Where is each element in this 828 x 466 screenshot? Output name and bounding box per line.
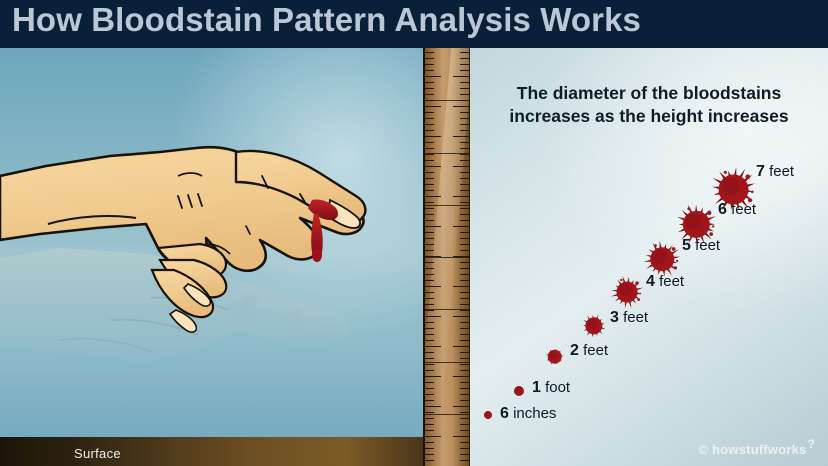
ruler-tick <box>425 166 441 167</box>
ruler-tick <box>425 340 434 341</box>
ruler-tick <box>425 352 434 353</box>
ruler-tick <box>460 82 469 83</box>
ruler-tick <box>453 136 469 137</box>
ruler-tick <box>425 70 434 71</box>
ruler-tick <box>425 316 441 317</box>
title-bar: How Bloodstain Pattern Analysis Works <box>0 0 828 48</box>
ruler-tick <box>425 136 441 137</box>
ruler-tick <box>425 328 434 329</box>
ruler-tick <box>460 154 469 155</box>
ruler-tick <box>460 358 469 359</box>
ruler-tick <box>453 286 469 287</box>
ruler-tick <box>460 388 469 389</box>
ruler-tick <box>425 196 441 197</box>
watermark-text: © howstuffworks <box>699 442 807 457</box>
ruler-tick <box>425 220 434 221</box>
infographic-root: How Bloodstain Pattern Analysis Works <box>0 0 828 466</box>
ruler-tick <box>460 232 469 233</box>
ruler-tick <box>460 52 469 53</box>
ruler-tick <box>425 358 434 359</box>
ruler-tick <box>425 424 434 425</box>
ruler-tick <box>460 148 469 149</box>
ruler-tick <box>460 418 469 419</box>
ruler-tick <box>425 412 434 413</box>
bloodstain-height-label: 7 feet <box>756 164 794 180</box>
ruler-tick <box>425 448 434 449</box>
ruler-tick <box>425 364 434 365</box>
ruler-tick <box>425 418 434 419</box>
ruler-tick <box>425 406 441 407</box>
height-value: 1 <box>532 379 541 396</box>
ruler-tick <box>425 154 434 155</box>
ruler-tick <box>460 64 469 65</box>
ruler-major-mark <box>425 257 470 258</box>
height-value: 2 <box>570 342 579 359</box>
ruler-major-mark <box>425 362 470 363</box>
ruler-tick <box>460 250 469 251</box>
height-value: 6 <box>500 405 509 422</box>
ruler-tick <box>460 94 469 95</box>
height-unit: inches <box>509 405 557 422</box>
ruler-tick <box>425 184 434 185</box>
ruler-tick <box>460 268 469 269</box>
chart-caption: The diameter of the bloodstains increase… <box>470 82 828 128</box>
ruler-tick <box>425 142 434 143</box>
ruler-tick <box>425 214 434 215</box>
ruler-tick <box>425 172 434 173</box>
ruler-tick <box>453 436 469 437</box>
ruler-tick <box>460 220 469 221</box>
ruler-tick <box>460 130 469 131</box>
ruler-tick <box>460 304 469 305</box>
ruler-tick <box>460 214 469 215</box>
ruler-tick <box>460 430 469 431</box>
ruler-tick <box>460 262 469 263</box>
ruler-tick <box>460 454 469 455</box>
surface-strip <box>0 437 423 466</box>
ruler-tick <box>425 442 434 443</box>
ruler-tick <box>425 88 434 89</box>
ruler-tick <box>425 202 434 203</box>
ruler-tick <box>425 190 434 191</box>
ruler-tick <box>425 346 441 347</box>
ruler-tick <box>453 346 469 347</box>
ruler-tick <box>425 148 434 149</box>
ruler-tick <box>460 412 469 413</box>
ruler-tick <box>425 400 434 401</box>
ruler-tick <box>460 322 469 323</box>
wooden-ruler <box>423 48 470 466</box>
ruler-tick <box>453 166 469 167</box>
ruler-tick <box>460 184 469 185</box>
ruler-tick <box>460 202 469 203</box>
ruler-tick <box>460 274 469 275</box>
ruler-tick <box>425 286 441 287</box>
ruler-tick <box>460 58 469 59</box>
ruler-tick <box>425 124 434 125</box>
ruler-tick <box>425 244 434 245</box>
ruler-tick <box>425 388 434 389</box>
ruler-tick <box>425 232 434 233</box>
ruler-tick <box>425 94 434 95</box>
ruler-tick <box>460 364 469 365</box>
ruler-tick <box>460 328 469 329</box>
ruler-tick <box>425 274 434 275</box>
ruler-tick <box>453 76 469 77</box>
page-title: How Bloodstain Pattern Analysis Works <box>12 1 641 39</box>
left-illustration-panel: Surface <box>0 48 423 466</box>
ruler-tick <box>425 262 434 263</box>
ruler-tick <box>425 76 441 77</box>
height-unit: feet <box>765 163 794 180</box>
ruler-tick <box>460 238 469 239</box>
ruler-tick <box>453 376 469 377</box>
ruler-tick <box>460 400 469 401</box>
ruler-tick <box>425 268 434 269</box>
ruler-tick <box>460 208 469 209</box>
ruler-tick <box>425 304 434 305</box>
bloodstain-height-label: 1 foot <box>532 380 570 396</box>
ruler-major-mark <box>425 205 470 206</box>
ruler-tick <box>425 64 434 65</box>
height-unit: foot <box>541 379 570 396</box>
ruler-tick <box>460 298 469 299</box>
ruler-tick <box>460 382 469 383</box>
ruler-tick <box>460 424 469 425</box>
ruler-tick <box>460 190 469 191</box>
ruler-tick <box>425 178 434 179</box>
ruler-tick <box>425 454 434 455</box>
ruler-major-mark <box>425 309 470 310</box>
ruler-tick <box>425 376 441 377</box>
ruler-tick <box>425 106 441 107</box>
ruler-tick <box>460 244 469 245</box>
ruler-major-mark <box>425 153 470 154</box>
caption-line-2: increases as the height increases <box>470 105 828 128</box>
bloodstain-size-chart-panel: The diameter of the bloodstains increase… <box>470 48 828 466</box>
ruler-tick <box>425 52 434 53</box>
ruler-tick <box>460 340 469 341</box>
ruler-tick <box>425 310 434 311</box>
ruler-tick <box>425 334 434 335</box>
ruler-tick <box>453 196 469 197</box>
ruler-tick <box>460 142 469 143</box>
ruler-tick <box>453 226 469 227</box>
surface-label: Surface <box>74 446 121 461</box>
ruler-tick <box>425 370 434 371</box>
ruler-tick <box>425 394 434 395</box>
ruler-tick <box>425 382 434 383</box>
howstuffworks-watermark: © howstuffworks? <box>699 442 814 457</box>
ruler-tick <box>460 460 469 461</box>
ruler-tick <box>460 394 469 395</box>
bloodstain-height-label: 2 feet <box>570 343 608 359</box>
ruler-tick <box>425 430 434 431</box>
caption-line-1: The diameter of the bloodstains <box>470 82 828 105</box>
ruler-tick <box>425 292 434 293</box>
ruler-tick <box>460 88 469 89</box>
ruler-tick <box>460 172 469 173</box>
ruler-tick <box>425 298 434 299</box>
ruler-tick <box>460 160 469 161</box>
ruler-tick <box>425 460 434 461</box>
ruler-tick <box>460 292 469 293</box>
ruler-tick <box>460 70 469 71</box>
ruler-tick <box>460 124 469 125</box>
ruler-tick <box>425 160 434 161</box>
ruler-tick <box>453 106 469 107</box>
bloodstain-droplet <box>508 380 530 402</box>
ruler-major-mark <box>425 100 470 101</box>
ruler-tick <box>460 280 469 281</box>
watermark-question-mark: ? <box>807 437 815 451</box>
ruler-major-mark <box>425 414 470 415</box>
ruler-tick <box>425 58 434 59</box>
ruler-tick <box>453 406 469 407</box>
ruler-tick <box>460 370 469 371</box>
ruler-tick <box>460 178 469 179</box>
height-unit: feet <box>579 342 608 359</box>
ruler-tick <box>425 226 441 227</box>
ruler-tick <box>425 250 434 251</box>
height-value: 7 <box>756 163 765 180</box>
ruler-tick <box>425 238 434 239</box>
bloodstain-droplet <box>540 342 569 371</box>
ruler-tick <box>425 82 434 83</box>
ruler-tick <box>425 208 434 209</box>
ruler-tick <box>460 334 469 335</box>
bloodstain-height-label: 6 inches <box>500 406 556 422</box>
ruler-tick <box>453 316 469 317</box>
ruler-tick <box>425 322 434 323</box>
bloodstain-droplet <box>478 405 498 425</box>
ruler-tick <box>425 436 441 437</box>
ruler-tick <box>460 118 469 119</box>
ruler-tick <box>460 112 469 113</box>
ruler-tick <box>425 112 434 113</box>
ruler-tick <box>460 442 469 443</box>
bleeding-hand-illustration <box>0 48 423 466</box>
ruler-tick <box>425 118 434 119</box>
ruler-tick <box>460 352 469 353</box>
ruler-tick <box>425 130 434 131</box>
ruler-tick <box>460 310 469 311</box>
ruler-tick <box>425 280 434 281</box>
ruler-tick <box>460 448 469 449</box>
